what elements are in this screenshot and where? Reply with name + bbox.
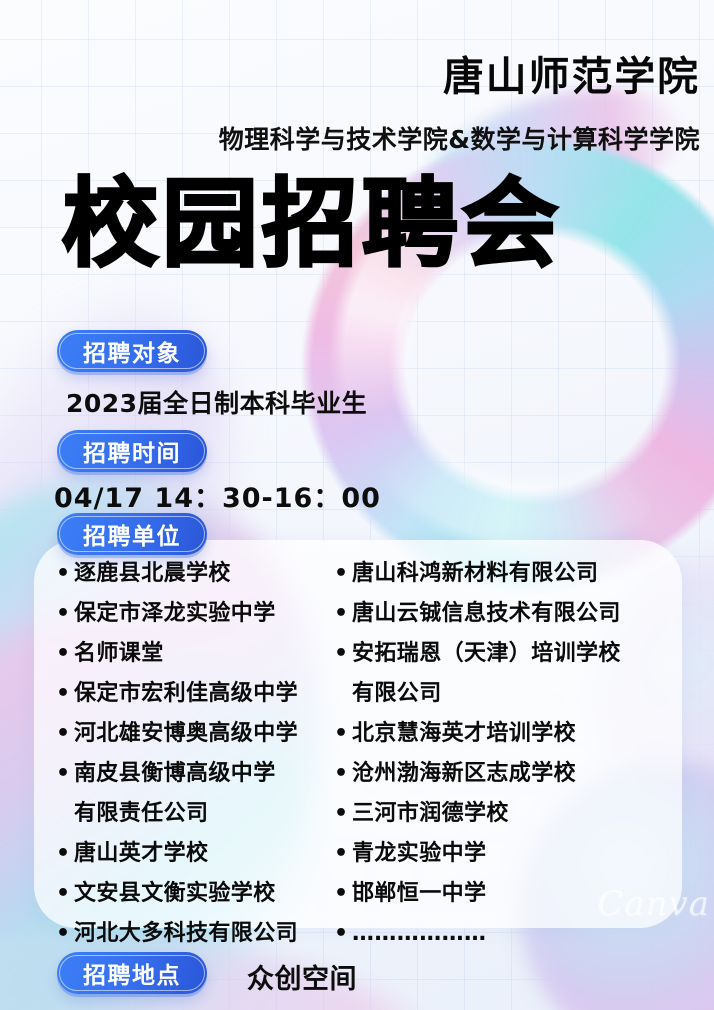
bullet-icon: •: [334, 794, 352, 834]
department-name: 物理科学与技术学院&数学与计算科学学院: [10, 120, 700, 156]
list-item-label: 青龙实验中学: [352, 834, 694, 874]
units-column-right: •唐山科鸿新材料有限公司•唐山云铖信息技术有限公司•安拓瑞恩（天津）培训学校•有…: [334, 554, 694, 934]
list-item-label: 文安县文衡实验学校: [74, 874, 334, 914]
bullet-icon: •: [56, 554, 74, 594]
badge-recruitment-units: 招聘单位: [57, 513, 207, 555]
bullet-icon: •: [334, 594, 352, 634]
badge-recruitment-place: 招聘地点: [57, 952, 207, 994]
bullet-icon: •: [334, 754, 352, 794]
list-item-label: 唐山云铖信息技术有限公司: [352, 594, 694, 634]
list-item: •三河市润德学校: [334, 794, 694, 834]
recruitment-time-value: 04/17 14：30-16：00: [54, 476, 381, 515]
bullet-icon: •: [56, 914, 74, 954]
bullet-icon: •: [56, 634, 74, 674]
list-item-label: 名师课堂: [74, 634, 334, 674]
list-item-label: ………………: [352, 914, 694, 954]
bullet-icon: •: [56, 714, 74, 754]
list-item: •南皮县衡博高级中学: [56, 754, 334, 794]
bullet-icon: •: [334, 634, 352, 674]
units-columns: •逐鹿县北晨学校•保定市泽龙实验中学•名师课堂•保定市宏利佳高级中学•河北雄安博…: [34, 554, 694, 934]
list-item-label: 唐山英才学校: [74, 834, 334, 874]
bullet-icon: •: [56, 674, 74, 714]
list-item: •逐鹿县北晨学校: [56, 554, 334, 594]
list-item: •青龙实验中学: [334, 834, 694, 874]
badge-recruitment-target: 招聘对象: [57, 330, 207, 372]
list-item: •文安县文衡实验学校: [56, 874, 334, 914]
list-item-label: 保定市泽龙实验中学: [74, 594, 334, 634]
list-item-label: 安拓瑞恩（天津）培训学校: [352, 634, 694, 674]
bullet-icon: •: [56, 834, 74, 874]
list-item-label: 保定市宏利佳高级中学: [74, 674, 334, 714]
list-item-label: 南皮县衡博高级中学: [74, 754, 334, 794]
list-item: •………………: [334, 914, 694, 954]
list-item-label: 北京慧海英才培训学校: [352, 714, 694, 754]
bullet-icon: •: [56, 754, 74, 794]
bullet-icon: •: [334, 874, 352, 914]
list-item-label: 有限责任公司: [74, 794, 334, 834]
list-item: •唐山云铖信息技术有限公司: [334, 594, 694, 634]
list-item: •保定市泽龙实验中学: [56, 594, 334, 634]
bullet-icon: •: [334, 834, 352, 874]
list-item-label: 三河市润德学校: [352, 794, 694, 834]
list-item-label: 沧州渤海新区志成学校: [352, 754, 694, 794]
bullet-icon: •: [56, 594, 74, 634]
list-item: •沧州渤海新区志成学校: [334, 754, 694, 794]
list-item: •安拓瑞恩（天津）培训学校: [334, 634, 694, 674]
units-column-left: •逐鹿县北晨学校•保定市泽龙实验中学•名师课堂•保定市宏利佳高级中学•河北雄安博…: [34, 554, 334, 934]
poster-content: 唐山师范学院 物理科学与技术学院&数学与计算科学学院 校园招聘会 招聘对象 20…: [0, 0, 714, 1010]
list-item-label: 河北大多科技有限公司: [74, 914, 334, 954]
bullet-icon: •: [56, 874, 74, 914]
list-item: •保定市宏利佳高级中学: [56, 674, 334, 714]
recruitment-place-value: 众创空间: [247, 957, 357, 996]
poster-root: 唐山师范学院 物理科学与技术学院&数学与计算科学学院 校园招聘会 招聘对象 20…: [0, 0, 714, 1010]
list-item: •北京慧海英才培训学校: [334, 714, 694, 754]
bullet-icon: •: [334, 554, 352, 594]
list-item: •河北雄安博奥高级中学: [56, 714, 334, 754]
school-name: 唐山师范学院: [0, 44, 700, 102]
page-title: 校园招聘会: [62, 176, 562, 274]
list-item: •名师课堂: [56, 634, 334, 674]
list-item: •唐山科鸿新材料有限公司: [334, 554, 694, 594]
list-item-label: 逐鹿县北晨学校: [74, 554, 334, 594]
badge-recruitment-time: 招聘时间: [57, 430, 207, 472]
list-item-label: 河北雄安博奥高级中学: [74, 714, 334, 754]
recruitment-target-value: 2023届全日制本科毕业生: [66, 384, 367, 420]
list-item: •有限公司: [334, 674, 694, 714]
list-item-label: 有限公司: [352, 674, 694, 714]
list-item: •河北大多科技有限公司: [56, 914, 334, 954]
list-item-label: 邯郸恒一中学: [352, 874, 694, 914]
bullet-icon: •: [334, 914, 352, 954]
bullet-icon: •: [334, 714, 352, 754]
list-item-label: 唐山科鸿新材料有限公司: [352, 554, 694, 594]
list-item: •邯郸恒一中学: [334, 874, 694, 914]
list-item: •有限责任公司: [56, 794, 334, 834]
list-item: •唐山英才学校: [56, 834, 334, 874]
